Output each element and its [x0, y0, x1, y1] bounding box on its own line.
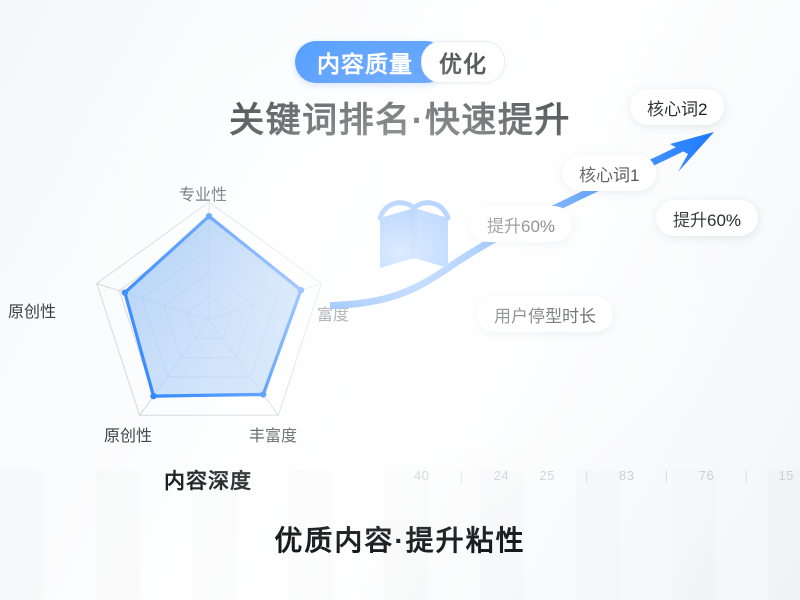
open-book-icon-svg — [372, 188, 456, 280]
callout-core-keyword-2[interactable]: 核心词2 — [630, 89, 724, 125]
page-footer-title: 优质内容·提升粘性 — [0, 519, 800, 559]
badge-secondary-pill: 优化 — [421, 41, 505, 83]
tick-3: 25 — [539, 468, 554, 483]
radar-axis-label-bottom-right: 丰富度 — [249, 422, 297, 446]
callout-core-keyword-1[interactable]: 核心词1 — [562, 155, 656, 191]
open-book-icon — [372, 188, 456, 280]
radar-data-polygon — [125, 216, 301, 396]
poster-canvas: 专业性 富度 丰富度 原创性 原创性 内容质量 优化 关键词排名·快速提升 内容… — [0, 0, 800, 600]
tick-6: | — [665, 468, 669, 483]
radar-axis-label-bottom-left: 原创性 — [104, 422, 152, 446]
tick-4: | — [585, 468, 589, 483]
tick-9: 15 — [778, 468, 793, 483]
radar-chart: 专业性 富度 丰富度 原创性 原创性 — [44, 188, 374, 458]
content-depth-label: 内容深度 — [164, 465, 252, 495]
callout-dwell-time[interactable]: 用户停型时长 — [477, 296, 613, 332]
tick-5: 83 — [619, 468, 634, 483]
tick-1: | — [460, 468, 464, 483]
faint-axis-ticks: 40 | 24 25 | 83 | 76 | 15 — [414, 466, 794, 484]
radar-axis-label-top: 专业性 — [179, 181, 227, 205]
callout-uplift-left[interactable]: 提升60% — [470, 206, 572, 242]
tick-0: 40 — [414, 468, 429, 483]
tick-7: 76 — [699, 468, 714, 483]
radar-axis-label-left: 原创性 — [8, 298, 56, 322]
tick-8: | — [744, 468, 748, 483]
callout-uplift-right[interactable]: 提升60% — [656, 200, 758, 236]
tick-2: 24 — [494, 468, 509, 483]
badge: 内容质量 优化 — [295, 40, 505, 84]
